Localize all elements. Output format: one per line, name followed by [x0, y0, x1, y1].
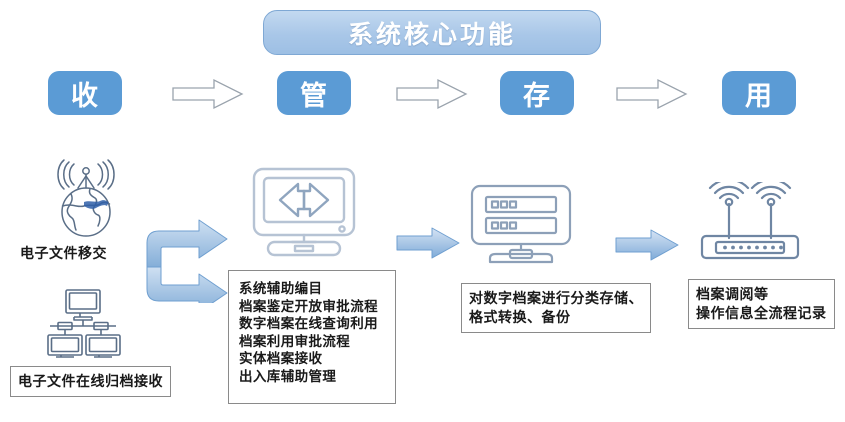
stage-chip-cun[interactable]: 存 [500, 71, 574, 115]
feature-item: 档案鉴定开放审批流程 [239, 298, 395, 316]
feature-item: 档案利用审批流程 [239, 333, 395, 351]
label-storage-description: 对数字档案进行分类存储、 格式转换、备份 [461, 283, 651, 333]
stage-chip-label: 管 [300, 74, 328, 113]
label-use-line-1: 档案调阅等 [696, 285, 827, 304]
page-title-banner: 系统核心功能 [263, 10, 601, 55]
computer-network-icon [30, 288, 136, 360]
management-features-box: 系统辅助编目 档案鉴定开放审批流程 数字档案在线查询利用 档案利用审批流程 实体… [228, 270, 396, 404]
feature-item: 系统辅助编目 [239, 280, 395, 298]
stage-chip-label: 收 [71, 74, 99, 113]
monitor-exchange-arrows-icon [248, 166, 360, 258]
hollow-right-arrow-icon [396, 78, 468, 110]
label-use-line-2: 操作信息全流程记录 [696, 304, 827, 323]
label-use-description: 档案调阅等 操作信息全流程记录 [688, 279, 835, 329]
feature-item: 实体档案接收 [239, 350, 395, 368]
label-online-archive-receipt: 电子文件在线归档接收 [10, 366, 171, 397]
hollow-right-arrow-icon [616, 78, 688, 110]
stage-chip-guan[interactable]: 管 [277, 71, 351, 115]
hollow-right-arrow-icon [172, 78, 244, 110]
label-storage-line-1: 对数字档案进行分类存储、 [469, 289, 643, 308]
server-storage-icon [468, 184, 574, 264]
label-electronic-file-transfer: 电子文件移交 [20, 243, 107, 263]
label-storage-line-2: 格式转换、备份 [469, 308, 643, 327]
stage-chip-label: 存 [523, 74, 551, 113]
stage-chip-shou[interactable]: 收 [48, 71, 122, 115]
diagram-canvas: 系统核心功能 收 管 存 用 [0, 0, 845, 422]
feature-item: 出入库辅助管理 [239, 368, 395, 386]
blue-right-arrow-icon [396, 226, 460, 260]
stage-chip-yong[interactable]: 用 [722, 71, 796, 115]
globe-antenna-icon [38, 158, 134, 240]
blue-right-arrow-icon [615, 228, 679, 262]
page-title: 系统核心功能 [348, 15, 516, 51]
stage-chip-label: 用 [745, 74, 773, 113]
wifi-router-icon [692, 182, 808, 264]
feature-item: 数字档案在线查询利用 [239, 315, 395, 333]
